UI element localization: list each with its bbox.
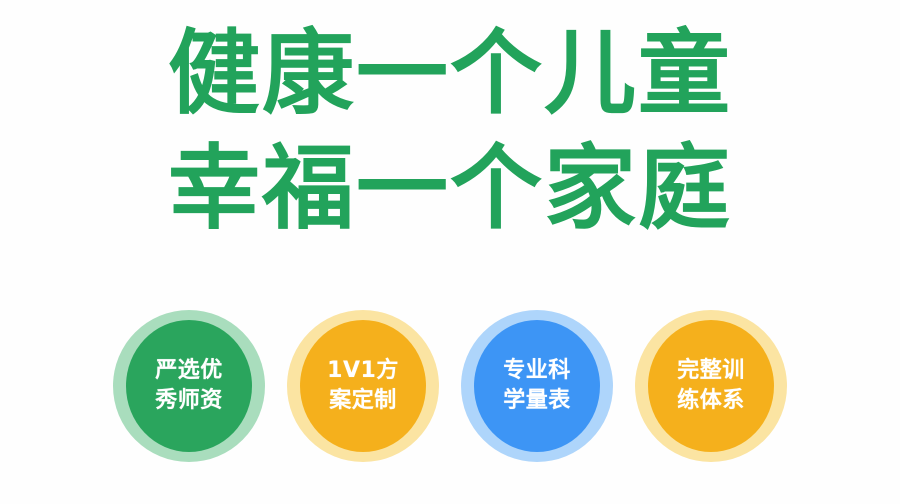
headline-block: 健康一个儿童 幸福一个家庭 [0, 16, 900, 246]
badge-label-plan-line2: 案定制 [327, 386, 399, 416]
badge-label-training: 完整训 练体系 [677, 356, 745, 416]
badge-label-plan-line1: 1V1方 [327, 356, 399, 386]
poster-canvas: 健康一个儿童 幸福一个家庭 严选优 秀师资 1V1方 案定制 [0, 0, 900, 504]
badge-label-teachers: 严选优 秀师资 [155, 356, 223, 416]
badge-disc-plan: 1V1方 案定制 [300, 320, 426, 452]
badge-disc-teachers: 严选优 秀师资 [126, 320, 252, 452]
badge-label-plan: 1V1方 案定制 [327, 356, 399, 416]
headline-line-1: 健康一个儿童 [0, 16, 900, 131]
badge-label-training-line2: 练体系 [677, 386, 745, 416]
feature-badge-plan[interactable]: 1V1方 案定制 [287, 310, 439, 462]
badge-label-scale: 专业科 学量表 [503, 356, 571, 416]
badge-label-scale-line1: 专业科 [503, 356, 571, 386]
feature-badge-row: 严选优 秀师资 1V1方 案定制 专业科 学量表 [0, 308, 900, 464]
badge-label-scale-line2: 学量表 [503, 386, 571, 416]
badge-disc-training: 完整训 练体系 [648, 320, 774, 452]
headline-line-2: 幸福一个家庭 [0, 131, 900, 246]
feature-badge-training[interactable]: 完整训 练体系 [635, 310, 787, 462]
badge-disc-scale: 专业科 学量表 [474, 320, 600, 452]
badge-label-teachers-line1: 严选优 [155, 356, 223, 386]
badge-label-training-line1: 完整训 [677, 356, 745, 386]
feature-badge-scale[interactable]: 专业科 学量表 [461, 310, 613, 462]
feature-badge-teachers[interactable]: 严选优 秀师资 [113, 310, 265, 462]
badge-label-teachers-line2: 秀师资 [155, 386, 223, 416]
